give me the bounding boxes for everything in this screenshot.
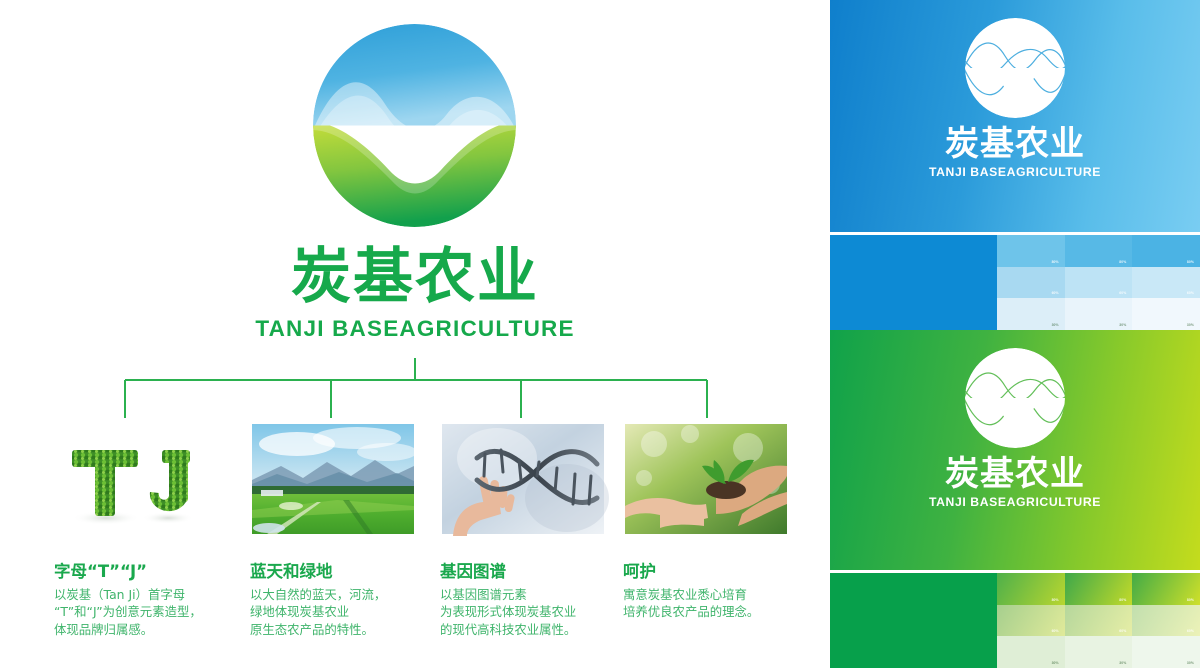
caption-title: 字母“T”“J”	[54, 562, 254, 583]
circular-wave-logo-icon	[961, 14, 1069, 122]
caption-line: 以炭基（Tan Ji）首字母	[54, 586, 254, 604]
tint-swatch: 80%	[1132, 573, 1200, 605]
tint-label: 30%	[1119, 661, 1126, 665]
wordmark-chinese: 炭基农业	[0, 245, 830, 310]
concept-caption: 呵护 寓意炭基农业悉心培育 培养优良农产品的理念。	[623, 562, 823, 621]
tint-label: 80%	[1119, 260, 1126, 264]
caption-line: 寓意炭基农业悉心培育	[623, 586, 823, 604]
panel-wordmark-english: TANJI BASEAGRICULTURE	[830, 165, 1200, 179]
caption-title: 基因图谱	[440, 562, 640, 583]
tint-label: 30%	[1187, 323, 1194, 327]
caption-line: 为表现形式体现炭基农业	[440, 603, 640, 621]
tint-swatch: 80%	[1065, 235, 1133, 267]
green-application-panel: 炭基农业 TANJI BASEAGRICULTURE	[830, 330, 1200, 570]
dna-helix-hand-image	[437, 418, 609, 540]
tint-label: 80%	[1119, 598, 1126, 602]
tint-label: 30%	[1052, 661, 1059, 665]
brand-identity-board: 炭基农业 TANJI BASEAGRICULTURE	[0, 0, 1200, 670]
concept-caption: 字母“T”“J” 以炭基（Tan Ji）首字母 “T”和“J”为创意元素造型， …	[54, 562, 254, 638]
circular-wave-logo-icon	[307, 18, 522, 233]
concept-caption-row: 字母“T”“J” 以炭基（Tan Ji）首字母 “T”和“J”为创意元素造型， …	[0, 562, 830, 662]
tint-swatch: 30%	[1132, 298, 1200, 330]
tint-swatch: 60%	[997, 605, 1065, 637]
main-logo-section: 炭基农业 TANJI BASEAGRICULTURE	[0, 0, 830, 670]
tint-label: 60%	[1187, 629, 1194, 633]
leaf-letters-tj-image	[46, 418, 218, 540]
tint-label: 60%	[1119, 291, 1126, 295]
panel-wordmark-chinese: 炭基农业	[830, 456, 1200, 493]
caption-line: 培养优良农产品的理念。	[623, 603, 823, 621]
tint-swatch: 60%	[1132, 605, 1200, 637]
tint-swatch: 60%	[1132, 267, 1200, 299]
concept-caption: 基因图谱 以基因图谱元素 为表现形式体现炭基农业 的现代高科技农业属性。	[440, 562, 640, 638]
tint-swatch: 60%	[1065, 605, 1133, 637]
green-tint-grid: 80% 80% 80% 60% 60% 60% 30% 30% 30%	[997, 573, 1200, 668]
tint-label: 80%	[1052, 260, 1059, 264]
circular-wave-logo-icon	[961, 344, 1069, 452]
tint-label: 60%	[1052, 291, 1059, 295]
tint-label: 80%	[1187, 598, 1194, 602]
caption-line: 的现代高科技农业属性。	[440, 621, 640, 639]
tint-label: 60%	[1119, 629, 1126, 633]
tint-label: 60%	[1187, 291, 1194, 295]
blue-primary-swatch	[830, 235, 997, 330]
tint-label: 30%	[1119, 323, 1126, 327]
bracket-connector	[0, 358, 830, 420]
tint-label: 80%	[1052, 598, 1059, 602]
caption-line: 原生态农产品的特性。	[250, 621, 450, 639]
wordmark-english: TANJI BASEAGRICULTURE	[0, 316, 830, 342]
color-application-panels: 炭基农业 TANJI BASEAGRICULTURE 80% 80% 80% 6…	[830, 0, 1200, 670]
green-color-swatches: 80% 80% 80% 60% 60% 60% 30% 30% 30%	[830, 573, 1200, 668]
blue-tint-grid: 80% 80% 80% 60% 60% 60% 30% 30% 30%	[997, 235, 1200, 330]
tint-swatch: 30%	[1065, 636, 1133, 668]
tint-swatch: 30%	[997, 298, 1065, 330]
caption-line: 体现品牌归属感。	[54, 621, 254, 639]
tint-swatch: 80%	[1065, 573, 1133, 605]
caption-line: 以基因图谱元素	[440, 586, 640, 604]
concept-image-row	[0, 418, 830, 550]
caption-title: 呵护	[623, 562, 823, 583]
tint-swatch: 60%	[1065, 267, 1133, 299]
caption-line: 以大自然的蓝天，河流，	[250, 586, 450, 604]
tint-swatch: 30%	[1132, 636, 1200, 668]
tint-swatch: 30%	[997, 636, 1065, 668]
tint-swatch: 80%	[997, 235, 1065, 267]
rice-field-landscape-image	[247, 418, 419, 540]
tint-swatch: 30%	[1065, 298, 1133, 330]
tint-swatch: 80%	[1132, 235, 1200, 267]
tint-label: 80%	[1187, 260, 1194, 264]
blue-panel-lockup: 炭基农业 TANJI BASEAGRICULTURE	[830, 14, 1200, 179]
caption-line: 绿地体现炭基农业	[250, 603, 450, 621]
caption-title: 蓝天和绿地	[250, 562, 450, 583]
green-primary-swatch	[830, 573, 997, 668]
tint-swatch: 60%	[997, 267, 1065, 299]
tint-label: 60%	[1052, 629, 1059, 633]
blue-color-swatches: 80% 80% 80% 60% 60% 60% 30% 30% 30%	[830, 235, 1200, 330]
concept-caption: 蓝天和绿地 以大自然的蓝天，河流， 绿地体现炭基农业 原生态农产品的特性。	[250, 562, 450, 638]
caption-line: “T”和“J”为创意元素造型，	[54, 603, 254, 621]
tint-label: 30%	[1187, 661, 1194, 665]
wordmark: 炭基农业 TANJI BASEAGRICULTURE	[0, 245, 830, 342]
hands-seedling-image	[620, 418, 792, 540]
tint-swatch: 80%	[997, 573, 1065, 605]
tint-label: 30%	[1052, 323, 1059, 327]
blue-application-panel: 炭基农业 TANJI BASEAGRICULTURE	[830, 0, 1200, 232]
green-panel-lockup: 炭基农业 TANJI BASEAGRICULTURE	[830, 344, 1200, 509]
panel-wordmark-english: TANJI BASEAGRICULTURE	[830, 495, 1200, 509]
panel-wordmark-chinese: 炭基农业	[830, 126, 1200, 163]
